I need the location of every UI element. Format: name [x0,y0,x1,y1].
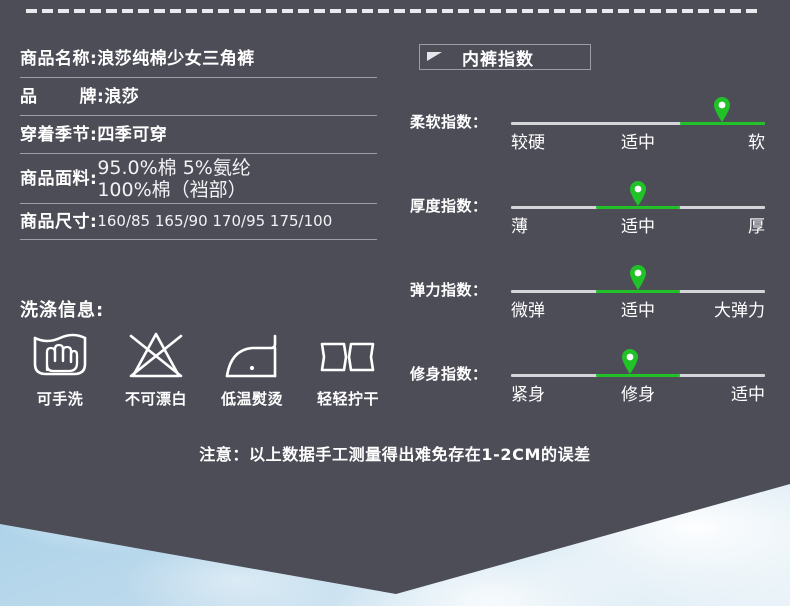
meter-tick-labels: 薄 适中 厚 [511,212,765,238]
washing-caption: 低温熨烫 [221,388,283,409]
meter-tick-high: 大弹力 [714,296,765,321]
spec-row-fabric: 商品面料: 95.0%棉 5%氨纶 100%棉（裆部） [0,154,400,204]
spec-value-season: 四季可穿 [97,127,167,144]
meter-tick-mid: 修身 [621,380,655,405]
spec-value-brand: 浪莎 [104,89,139,106]
meter-tick-low: 紧身 [511,380,545,405]
spec-separator [20,239,377,240]
meter-label: 柔软指数： [410,111,510,132]
spec-label-brand-a: 品 [20,89,38,106]
meter-tick-labels: 微弹 适中 大弹力 [511,296,765,322]
meter-tick-low: 薄 [511,212,528,237]
index-panel-badge-label: 内裤指数 [462,45,534,70]
washing-info-title: 洗涤信息: [20,296,104,322]
index-panel-badge: 内裤指数 [419,44,591,70]
measurement-note: 注意：以上数据手工测量得出难免存在1-2CM的误差 [0,441,790,465]
meter-tick-mid: 适中 [621,128,655,153]
spec-label-fabric: 商品面料: [20,171,97,188]
spec-label-brand-b: 牌: [80,89,105,106]
meter-marker-pin[interactable] [629,264,647,290]
meter-track[interactable] [511,206,765,209]
spec-label-season: 穿着季节: [20,127,97,144]
spec-value-fabric-line2: 100%棉（裆部） [97,179,251,201]
spec-value-fabric-line1: 95.0%棉 5%氨纶 [97,157,251,179]
meter-fill [680,122,765,125]
meter-thickness: 厚度指数： 薄 适中 厚 [410,176,790,248]
meter-tick-high: 适中 [731,380,765,405]
washing-item-low-temp-iron: 低温熨烫 [206,330,298,409]
meter-track[interactable] [511,374,765,377]
spec-label-size: 商品尺寸: [20,214,97,231]
meter-softness: 柔软指数： 较硬 适中 软 [410,92,790,164]
meter-marker-pin[interactable] [713,96,731,122]
meter-tick-high: 厚 [748,212,765,237]
flag-icon [427,52,442,61]
meter-tick-labels: 较硬 适中 软 [511,128,765,154]
spec-label-product-name: 商品名称: [20,51,97,68]
meter-tick-labels: 紧身 修身 适中 [511,380,765,406]
meter-tick-mid: 适中 [621,212,655,237]
meter-track[interactable] [511,290,765,293]
no-bleach-icon [123,330,189,382]
washing-caption: 可手洗 [37,388,84,409]
spec-row-size: 商品尺寸: 160/85 165/90 170/95 175/100 [0,204,400,240]
meter-tick-low: 较硬 [511,128,545,153]
spec-row-product-name: 商品名称: 浪莎纯棉少女三角裤 [0,40,400,78]
washing-item-hand-wash: 可手洗 [14,330,106,409]
washing-caption: 轻轻拧干 [317,388,379,409]
meter-label: 厚度指数： [410,195,510,216]
washing-item-no-bleach: 不可漂白 [110,330,202,409]
top-dashed-divider [26,9,760,13]
hand-wash-icon [27,330,93,382]
product-detail-panel: 商品名称: 浪莎纯棉少女三角裤 品 牌: 浪莎 穿着季节: 四季可穿 商品面料:… [0,0,790,606]
meter-fill [596,206,681,209]
meter-tick-mid: 适中 [621,296,655,321]
washing-icon-row: 可手洗 不可漂白 低温熨烫 [14,330,394,409]
meter-track[interactable] [511,122,765,125]
meter-tick-high: 软 [748,128,765,153]
meter-slim-fit: 修身指数： 紧身 修身 适中 [410,344,790,416]
meter-label: 弹力指数： [410,279,510,300]
meter-fill [596,290,681,293]
product-spec-list: 商品名称: 浪莎纯棉少女三角裤 品 牌: 浪莎 穿着季节: 四季可穿 商品面料:… [0,40,400,240]
washing-item-gentle-wring: 轻轻拧干 [302,330,394,409]
low-temp-iron-icon [219,330,285,382]
meter-tick-low: 微弹 [511,296,545,321]
meter-elasticity: 弹力指数： 微弹 适中 大弹力 [410,260,790,332]
washing-caption: 不可漂白 [125,388,187,409]
spec-value-size: 160/85 165/90 170/95 175/100 [97,213,332,230]
meter-marker-pin[interactable] [621,348,639,374]
gentle-wring-icon [315,330,381,382]
spec-row-season: 穿着季节: 四季可穿 [0,116,400,154]
meter-marker-pin[interactable] [629,180,647,206]
meter-fill [596,374,681,377]
meter-label: 修身指数： [410,363,510,384]
spec-row-brand: 品 牌: 浪莎 [0,78,400,116]
spec-value-product-name: 浪莎纯棉少女三角裤 [97,51,255,68]
